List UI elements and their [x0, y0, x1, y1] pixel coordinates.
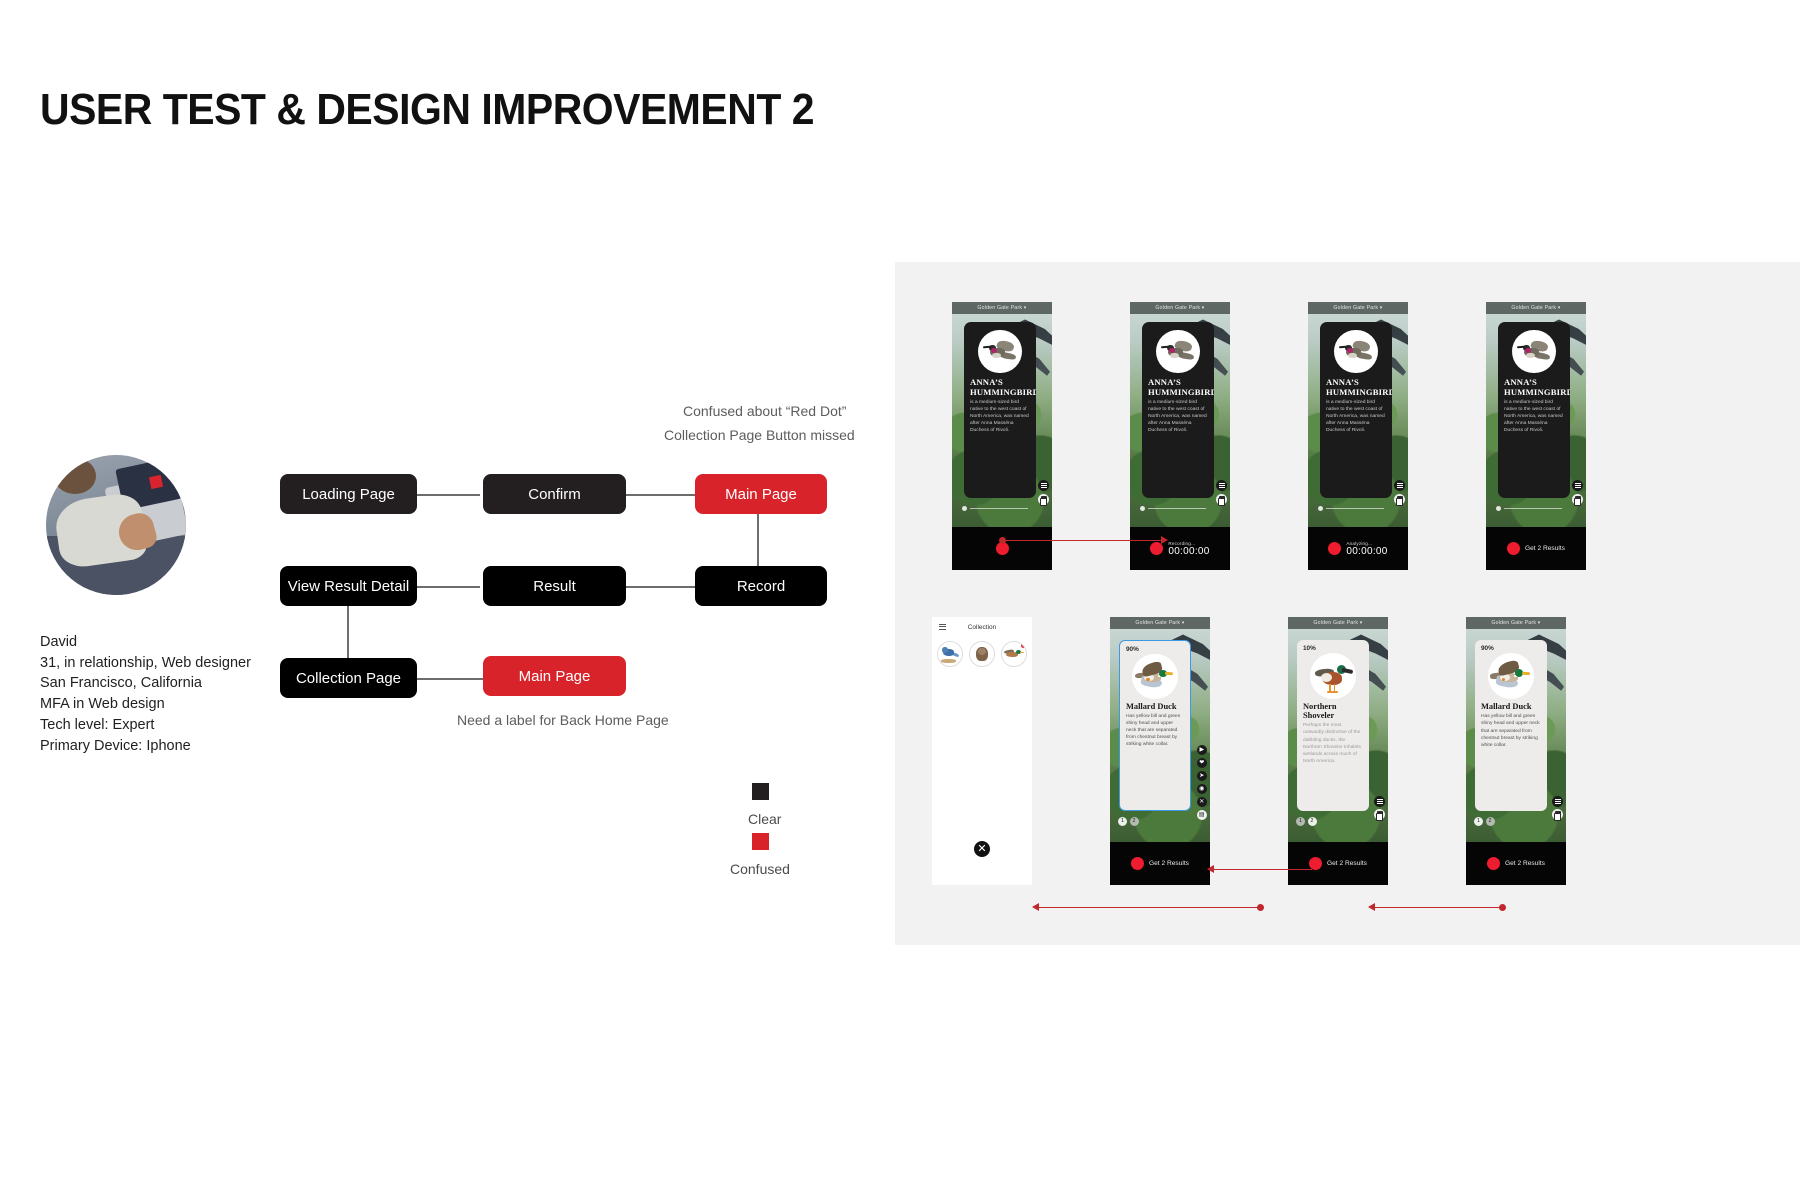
close-icon[interactable]: ✕	[974, 841, 990, 857]
record-bar[interactable]	[952, 527, 1052, 570]
flow-box-record[interactable]: Record	[695, 566, 827, 606]
list-icon[interactable]	[939, 624, 946, 631]
arrow-origin-dot	[1499, 904, 1506, 911]
layers-icon[interactable]	[1374, 809, 1385, 820]
analyzing-timer: 00:00:00	[1346, 546, 1387, 557]
carousel-indicator[interactable]	[1318, 506, 1384, 511]
collection-items	[932, 641, 1032, 667]
legend-swatch-clear	[752, 783, 769, 800]
flow-box-main-page-top[interactable]: Main Page	[695, 474, 827, 514]
pager-page-2[interactable]: 2	[1486, 817, 1495, 826]
hummingbird-photo	[978, 330, 1021, 373]
bird-name: ANNA’S HUMMINGBIRD	[1148, 378, 1208, 397]
menu-icon[interactable]	[1572, 480, 1583, 491]
result-description: Has yellow bill and green shiny head and…	[1126, 713, 1184, 749]
bird-name-line2: HUMMINGBIRD	[1148, 388, 1208, 397]
camera-scene: Golden Gate Park ▾ ANNA’S HUMMINGBIRD is…	[1308, 302, 1408, 527]
flow-connector-collection-mainpage	[415, 678, 485, 680]
arrow-head-icon	[1032, 903, 1039, 911]
menu-icon[interactable]	[1394, 480, 1405, 491]
analyzing-bar[interactable]: Analyzing... 00:00:00	[1308, 527, 1408, 570]
carousel-indicator[interactable]	[1140, 506, 1206, 511]
flow-box-label: Confirm	[528, 486, 581, 503]
get-results-label: Get 2 Results	[1327, 860, 1367, 867]
result-side-icon-group[interactable]: ▶ ❤ ➤ ◉ ✕ ▤	[1197, 745, 1208, 821]
close-icon[interactable]: ✕	[1197, 797, 1208, 808]
location-label: Golden Gate Park	[1313, 620, 1358, 626]
arrow-origin-dot	[1257, 904, 1264, 911]
arrow-result-to-collection	[1037, 907, 1261, 908]
flow-box-label: Loading Page	[302, 486, 395, 503]
get-results-bar[interactable]: Get 2 Results	[1486, 527, 1586, 570]
location-label: Golden Gate Park	[1155, 305, 1200, 311]
get-results-bar[interactable]: Get 2 Results	[1288, 842, 1388, 885]
flow-box-view-result-detail[interactable]: View Result Detail	[280, 566, 417, 606]
screen-result-mallard-again[interactable]: Golden Gate Park ▾ 90% Mallard Duck Has …	[1466, 617, 1566, 885]
legend-swatch-confused	[752, 833, 769, 850]
layers-icon[interactable]	[1038, 494, 1049, 505]
flow-box-confirm[interactable]: Confirm	[483, 474, 626, 514]
red-dot-badge	[1021, 643, 1026, 648]
flow-box-loading-page[interactable]: Loading Page	[280, 474, 417, 514]
result-bird-name: Mallard Duck	[1481, 702, 1541, 711]
flow-box-label: Result	[533, 578, 576, 595]
location-label: Golden Gate Park	[1491, 620, 1536, 626]
result-side-icon-group[interactable]	[1374, 796, 1385, 821]
bird-name: ANNA’S HUMMINGBIRD	[1504, 378, 1564, 397]
collection-item-mallard-duck[interactable]	[1001, 641, 1027, 667]
screen-result-mallard-selected[interactable]: Golden Gate Park ▾ 90% Mallard Duck Has …	[1110, 617, 1210, 885]
collection-title: Collection	[968, 624, 997, 631]
get-results-label: Get 2 Results	[1505, 860, 1545, 867]
bird-info-card[interactable]: ANNA’S HUMMINGBIRD is a medium-sized bir…	[1142, 322, 1214, 498]
chevron-down-icon: ▾	[1558, 305, 1561, 311]
side-icon-group[interactable]	[1572, 480, 1583, 505]
menu-icon[interactable]	[1552, 796, 1563, 807]
bird-name-line2: HUMMINGBIRD	[970, 388, 1030, 397]
chevron-down-icon: ▾	[1360, 620, 1363, 626]
chevron-down-icon: ▾	[1024, 305, 1027, 311]
location-label: Golden Gate Park	[977, 305, 1022, 311]
collection-item-owl[interactable]	[969, 641, 995, 667]
layers-icon[interactable]	[1216, 494, 1227, 505]
bird-name: ANNA’S HUMMINGBIRD	[1326, 378, 1386, 397]
menu-icon[interactable]	[1374, 796, 1385, 807]
bird-description: is a medium-sized bird native to the wes…	[1504, 400, 1564, 435]
pager-page-1[interactable]: 1	[1118, 817, 1127, 826]
side-icon-group[interactable]	[1394, 480, 1405, 505]
flow-box-main-page-bottom[interactable]: Main Page	[483, 656, 626, 696]
bird-description: is a medium-sized bird native to the wes…	[970, 400, 1030, 435]
bird-name: ANNA’S HUMMINGBIRD	[970, 378, 1030, 397]
result-bird-name: Northern Shoveler	[1303, 702, 1363, 720]
arrow-origin-dot	[999, 537, 1006, 544]
note-collection-button: Collection Page Button missed	[664, 427, 855, 443]
record-button[interactable]	[1328, 542, 1341, 555]
pager-page-1[interactable]: 1	[1474, 817, 1483, 826]
record-button[interactable]	[1131, 857, 1144, 870]
carousel-indicator[interactable]	[1496, 506, 1562, 511]
screen-recording[interactable]: Golden Gate Park ▾ ANNA’S HUMMINGBIRD is…	[1130, 302, 1230, 570]
result-pager[interactable]: 1 2	[1296, 817, 1317, 826]
result-description: Has yellow bill and green shiny head and…	[1481, 713, 1541, 749]
bird-description: is a medium-sized bird native to the wes…	[1148, 400, 1208, 435]
location-header[interactable]: Golden Gate Park ▾	[1130, 302, 1230, 314]
collection-item-blue-jay[interactable]	[937, 641, 963, 667]
side-icon-group[interactable]	[1038, 480, 1049, 505]
arrow-record-to-recording	[1003, 540, 1163, 541]
location-label: Golden Gate Park	[1511, 305, 1556, 311]
chevron-down-icon: ▾	[1380, 305, 1383, 311]
layers-icon[interactable]	[1394, 494, 1405, 505]
location-label: Golden Gate Park	[1333, 305, 1378, 311]
flow-box-label: View Result Detail	[288, 578, 409, 595]
result-description: Perhaps the most outwardly distinctive o…	[1303, 722, 1363, 765]
flow-box-label: Collection Page	[296, 670, 401, 687]
get-results-bar[interactable]: Get 2 Results	[1110, 842, 1210, 885]
layers-icon[interactable]	[1572, 494, 1583, 505]
flow-connector-viewresult-result	[415, 586, 480, 588]
get-results-label: Get 2 Results	[1525, 545, 1565, 552]
record-button[interactable]	[1487, 857, 1500, 870]
analyzing-status: Analyzing... 00:00:00	[1346, 541, 1387, 557]
location-header[interactable]: Golden Gate Park ▾	[1288, 617, 1388, 629]
flow-connector-confirm-mainpage	[625, 494, 700, 496]
flow-connector-result-record	[625, 586, 700, 588]
bird-info-card[interactable]: ANNA’S HUMMINGBIRD is a medium-sized bir…	[1320, 322, 1392, 498]
location-header[interactable]: Golden Gate Park ▾	[952, 302, 1052, 314]
carousel-indicator[interactable]	[962, 506, 1028, 511]
bird-info-card[interactable]: ANNA’S HUMMINGBIRD is a medium-sized bir…	[1498, 322, 1570, 498]
bird-info-card[interactable]: ANNA’S HUMMINGBIRD is a medium-sized bir…	[964, 322, 1036, 498]
get-results-bar[interactable]: Get 2 Results	[1466, 842, 1566, 885]
recording-bar[interactable]: Recording... 00:00:00	[1130, 527, 1230, 570]
confidence-percent: 10%	[1303, 645, 1363, 652]
flow-box-label: Record	[737, 578, 785, 595]
arrow-head-icon	[1207, 865, 1214, 873]
camera-scene: Golden Gate Park ▾ ANNA’S HUMMINGBIRD is…	[1486, 302, 1586, 527]
screen-collection[interactable]: Collection ✕	[932, 617, 1032, 885]
result-card[interactable]: 10% Northern Shoveler Perhaps the most o…	[1297, 640, 1369, 811]
pager-page-2[interactable]: 2	[1308, 817, 1317, 826]
camera-icon[interactable]: ◉	[1197, 784, 1208, 795]
heart-icon[interactable]: ❤	[1197, 758, 1208, 769]
mallard-duck-photo	[1132, 654, 1177, 699]
camera-scene: Golden Gate Park ▾ 10% Northern Shoveler…	[1288, 617, 1388, 842]
confidence-percent: 90%	[1126, 646, 1184, 653]
hummingbird-photo	[1156, 330, 1199, 373]
bird-name-line2: HUMMINGBIRD	[1326, 388, 1386, 397]
northern-shoveler-photo	[1310, 653, 1357, 700]
pager-page-2[interactable]: 2	[1130, 817, 1139, 826]
arrow-head-icon	[1161, 536, 1168, 544]
note-back-home: Need a label for Back Home Page	[457, 712, 669, 728]
result-card[interactable]: 90% Mallard Duck Has yellow bill and gre…	[1475, 640, 1547, 811]
bird-name-line2: HUMMINGBIRD	[1504, 388, 1564, 397]
arrow-shoveler-to-mallard	[1212, 869, 1312, 870]
menu-icon[interactable]	[1038, 480, 1049, 491]
record-button[interactable]	[1507, 542, 1520, 555]
location-header[interactable]: Golden Gate Park ▾	[1308, 302, 1408, 314]
location-header[interactable]: Golden Gate Park ▾	[1110, 617, 1210, 629]
menu-icon[interactable]	[1216, 480, 1227, 491]
location-label: Golden Gate Park	[1135, 620, 1180, 626]
flow-box-result[interactable]: Result	[483, 566, 626, 606]
confidence-percent: 90%	[1481, 645, 1541, 652]
camera-scene: Golden Gate Park ▾ 90% Mallard Duck Has …	[1466, 617, 1566, 842]
flow-box-label: Main Page	[725, 486, 797, 503]
camera-scene: Golden Gate Park ▾ 90% Mallard Duck Has …	[1110, 617, 1210, 842]
layers-icon[interactable]: ▤	[1197, 810, 1208, 821]
location-header[interactable]: Golden Gate Park ▾	[1486, 302, 1586, 314]
recording-timer: 00:00:00	[1168, 546, 1209, 557]
chevron-down-icon: ▾	[1202, 305, 1205, 311]
legend-label-confused: Confused	[730, 861, 790, 877]
hummingbird-photo	[1334, 330, 1377, 373]
screen-result-shoveler[interactable]: Golden Gate Park ▾ 10% Northern Shoveler…	[1288, 617, 1388, 885]
legend-label-clear: Clear	[748, 811, 781, 827]
result-pager[interactable]: 1 2	[1474, 817, 1495, 826]
side-icon-group[interactable]	[1216, 480, 1227, 505]
chevron-down-icon: ▾	[1538, 620, 1541, 626]
screen-results-ready[interactable]: Golden Gate Park ▾ ANNA’S HUMMINGBIRD is…	[1486, 302, 1586, 570]
flow-box-label: Main Page	[519, 668, 591, 685]
collection-header: Collection	[932, 617, 1032, 637]
camera-scene: Golden Gate Park ▾ ANNA’S HUMMINGBIRD is…	[952, 302, 1052, 527]
screens-panel: Golden Gate Park ▾ ANNA’S HUMMINGBIRD is…	[895, 262, 1800, 945]
recording-status: Recording... 00:00:00	[1168, 541, 1209, 557]
arrow-mallard-to-shoveler-pager	[1373, 907, 1503, 908]
flow-box-collection-page[interactable]: Collection Page	[280, 658, 417, 698]
result-bird-name: Mallard Duck	[1126, 702, 1184, 711]
layers-icon[interactable]	[1552, 809, 1563, 820]
result-pager[interactable]: 1 2	[1118, 817, 1139, 826]
share-icon[interactable]: ➤	[1197, 771, 1208, 782]
bird-description: is a medium-sized bird native to the wes…	[1326, 400, 1386, 435]
note-red-dot: Confused about “Red Dot”	[683, 403, 846, 419]
camera-scene: Golden Gate Park ▾ ANNA’S HUMMINGBIRD is…	[1130, 302, 1230, 527]
chevron-down-icon: ▾	[1182, 620, 1185, 626]
arrow-head-icon	[1368, 903, 1375, 911]
screen-main-page[interactable]: Golden Gate Park ▾ ANNA’S HUMMINGBIRD is…	[952, 302, 1052, 570]
screen-analyzing[interactable]: Golden Gate Park ▾ ANNA’S HUMMINGBIRD is…	[1308, 302, 1408, 570]
get-results-label: Get 2 Results	[1149, 860, 1189, 867]
flow-connector-loading-confirm	[415, 494, 480, 496]
result-card[interactable]: 90% Mallard Duck Has yellow bill and gre…	[1119, 640, 1191, 811]
hummingbird-photo	[1512, 330, 1555, 373]
location-header[interactable]: Golden Gate Park ▾	[1466, 617, 1566, 629]
user-flow-diagram: Loading Page Confirm Main Page View Resu…	[0, 0, 900, 900]
mallard-duck-photo	[1488, 653, 1535, 700]
play-icon[interactable]: ▶	[1197, 745, 1208, 756]
result-side-icon-group[interactable]	[1552, 796, 1563, 821]
pager-page-1[interactable]: 1	[1296, 817, 1305, 826]
